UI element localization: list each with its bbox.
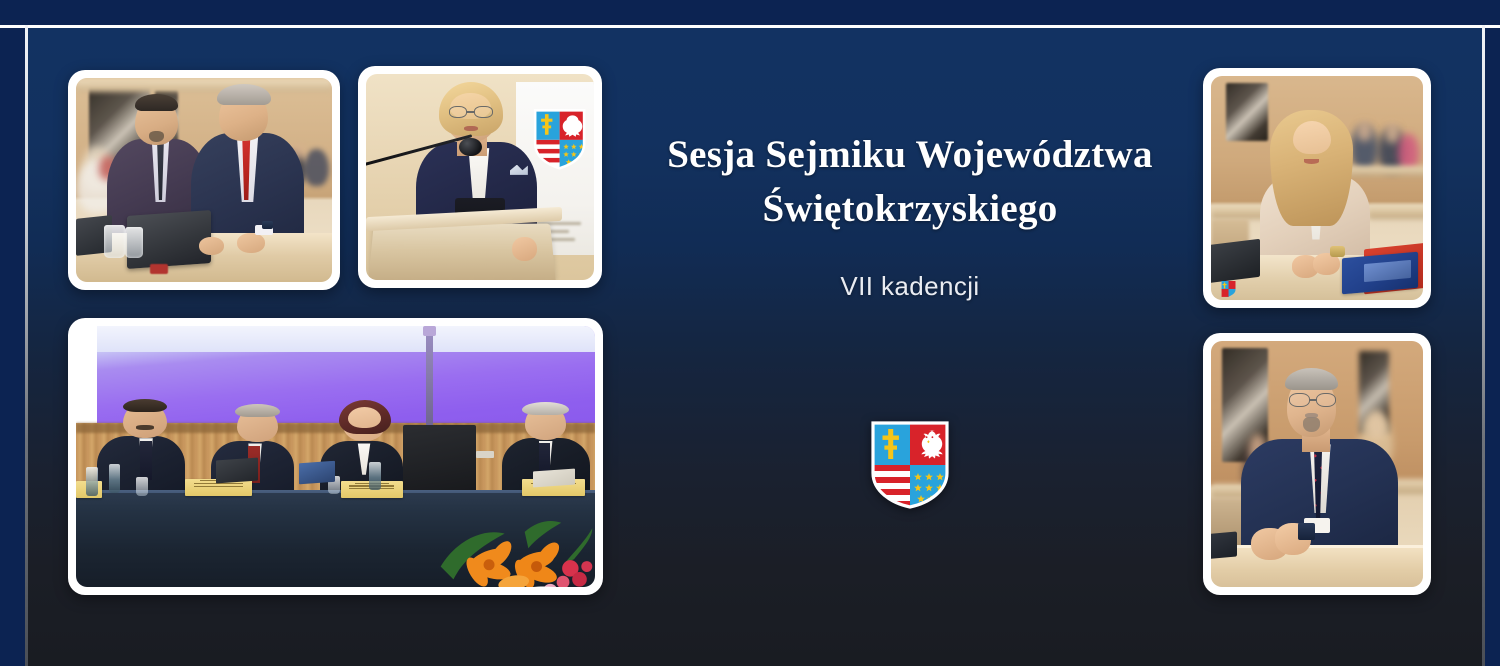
title-line-1: Sesja Sejmiku Województwa: [667, 133, 1153, 176]
photo-card-councillor-man[interactable]: [1203, 333, 1431, 595]
photo-councillor-man: [1211, 341, 1423, 587]
title-line-2: Świętokrzyskiego: [762, 187, 1057, 230]
photo-card-two-councillors[interactable]: [68, 70, 340, 290]
frame-border-right: [1482, 25, 1485, 666]
desk-emblem-icon: [1219, 280, 1238, 298]
photo-presidium-table: [76, 326, 595, 587]
slide-canvas: Sesja Sejmiku Województwa Świętokrzyskie…: [0, 0, 1500, 666]
slide-subtitle: VII kadencji: [630, 271, 1190, 302]
photo-card-speaker-at-podium[interactable]: [358, 66, 602, 288]
swietokrzyskie-coat-of-arms-icon: [871, 421, 949, 509]
slide-title: Sesja Sejmiku Województwa Świętokrzyskie…: [630, 128, 1190, 236]
photo-two-councillors: [76, 78, 332, 282]
photo-councillor-woman: [1211, 76, 1423, 300]
photo-card-presidium-table[interactable]: [68, 318, 603, 595]
banner-coat-of-arms-icon: [530, 109, 589, 171]
flower-bouquet: [429, 488, 595, 587]
photo-card-councillor-woman[interactable]: [1203, 68, 1431, 308]
photo-speaker-at-podium: [366, 74, 594, 280]
